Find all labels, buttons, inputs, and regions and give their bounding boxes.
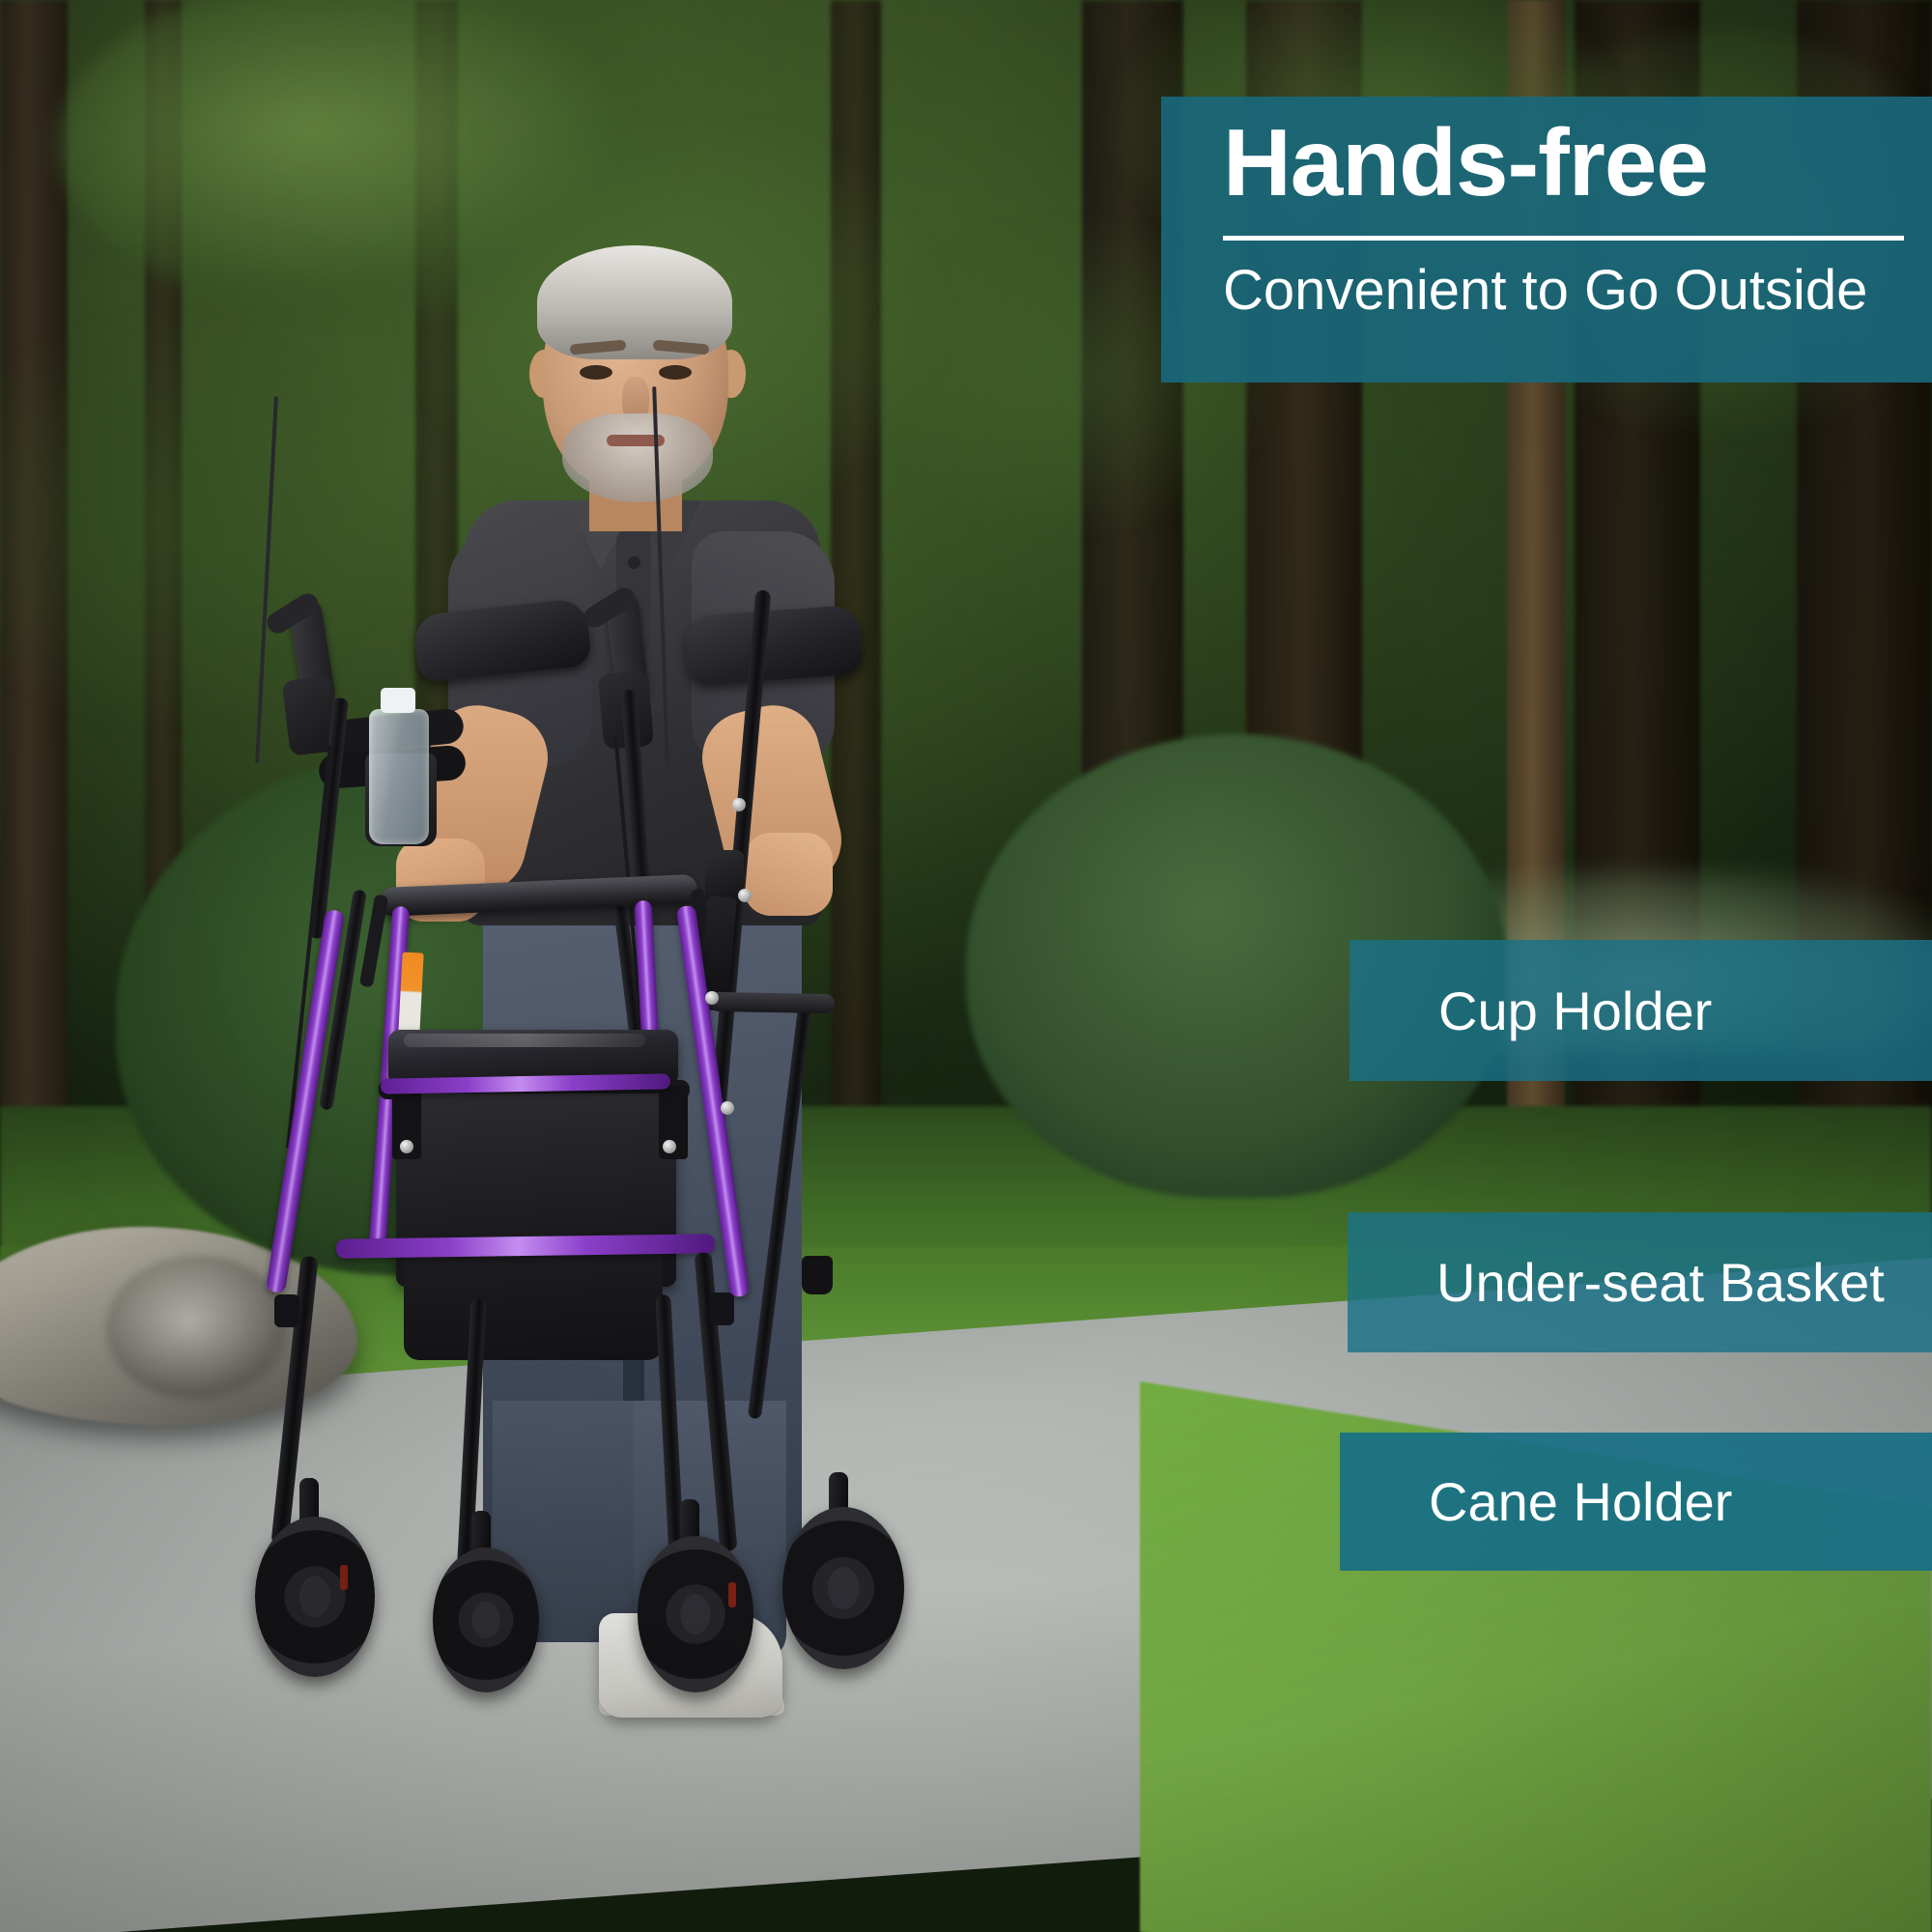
feature-callout-under-seat-basket: Under-seat Basket	[1348, 1212, 1932, 1352]
beard	[562, 413, 713, 502]
frame-rivet	[400, 1140, 413, 1153]
page-title: Hands-free	[1223, 112, 1903, 214]
cane-holder-foot	[802, 1256, 833, 1294]
leg-ferrule	[274, 1294, 299, 1327]
header-divider	[1223, 236, 1904, 241]
wheel	[782, 1507, 904, 1669]
wheel	[433, 1548, 539, 1692]
water-bottle	[369, 709, 429, 844]
frame-rivet	[663, 1140, 676, 1153]
wheel	[638, 1536, 753, 1692]
frame-rivet	[738, 889, 752, 902]
seat-highlight	[404, 1034, 645, 1047]
frame-rivet	[721, 1101, 734, 1115]
frame-rivet	[732, 798, 746, 811]
wheel-stripe	[340, 1565, 348, 1590]
header-subtitle: Convenient to Go Outside	[1223, 260, 1903, 323]
shirt-button	[628, 556, 640, 569]
hair	[537, 245, 732, 359]
wheel	[255, 1517, 375, 1677]
frame-rivet	[705, 991, 719, 1005]
feature-callout-cup-holder: Cup Holder	[1350, 940, 1932, 1081]
upright-rollator-walker	[319, 715, 1111, 1864]
product-marketing-image: Hands-free Convenient to Go Outside Cup …	[0, 0, 1932, 1932]
cane-holder-tube-lower	[748, 1006, 811, 1420]
eye-right	[659, 365, 692, 380]
under-seat-basket-lower	[404, 1252, 663, 1360]
eye-left	[580, 365, 612, 380]
wheel-stripe	[728, 1582, 736, 1607]
leg-ferrule	[709, 1293, 734, 1325]
forearm-support-pad-right	[684, 605, 865, 687]
boulder-highlight	[106, 1256, 290, 1401]
feature-label: Cane Holder	[1429, 1470, 1732, 1533]
feature-label: Under-seat Basket	[1436, 1251, 1885, 1314]
bottle-cap	[381, 688, 415, 713]
header-banner: Hands-free Convenient to Go Outside	[1161, 97, 1932, 383]
feature-callout-cane-holder: Cane Holder	[1340, 1433, 1932, 1571]
feature-label: Cup Holder	[1438, 980, 1712, 1042]
side-crossbar-right	[709, 992, 835, 1013]
